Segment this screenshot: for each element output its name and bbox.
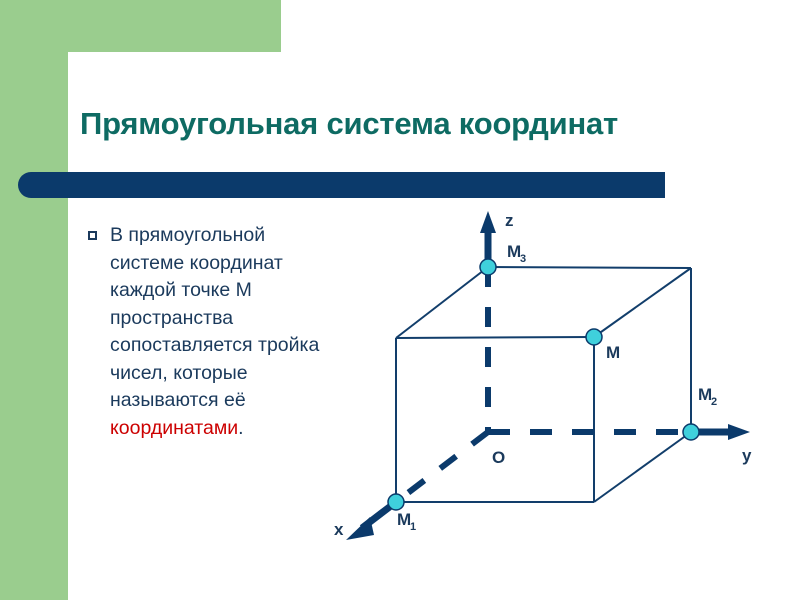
point-label-m: M xyxy=(606,343,620,362)
green-top-block xyxy=(0,0,281,52)
point-label-m1-subscript: 1 xyxy=(410,521,416,533)
paragraph-plain-text: В прямоугольной системе координат каждой… xyxy=(110,224,319,411)
point-label-m2-subscript: 2 xyxy=(711,396,717,408)
axis-z-arrowhead xyxy=(480,211,496,233)
slide-canvas: Прямоугольная система координат В прямоу… xyxy=(0,0,800,600)
bullet-paragraph: В прямоугольной системе координат каждой… xyxy=(88,222,338,442)
body-paragraph: В прямоугольной системе координат каждой… xyxy=(110,222,324,442)
hollow-square-bullet-icon xyxy=(88,231,97,240)
coordinate-diagram: z y x M 3 M M 2 M 1 O xyxy=(330,195,800,565)
green-side-rail xyxy=(0,0,68,600)
dashed-projection-lines xyxy=(396,267,691,502)
paragraph-tail-text: . xyxy=(238,417,243,439)
axis-label-x: x xyxy=(334,520,344,539)
point-m3-dot xyxy=(480,259,496,275)
point-label-m3-subscript: 3 xyxy=(520,253,526,265)
page-title: Прямоугольная система координат xyxy=(80,106,780,142)
point-m-dot xyxy=(586,329,602,345)
axis-label-y: y xyxy=(742,446,752,465)
axis-y-arrowhead xyxy=(728,424,750,440)
axis-label-z: z xyxy=(505,211,514,230)
point-m1-dot xyxy=(388,494,404,510)
axis-x-arrowhead xyxy=(346,517,374,540)
paragraph-accent-text: координатами xyxy=(110,417,238,439)
point-label-origin: O xyxy=(492,448,505,467)
point-m2-dot xyxy=(683,424,699,440)
axis-lines xyxy=(346,211,750,540)
